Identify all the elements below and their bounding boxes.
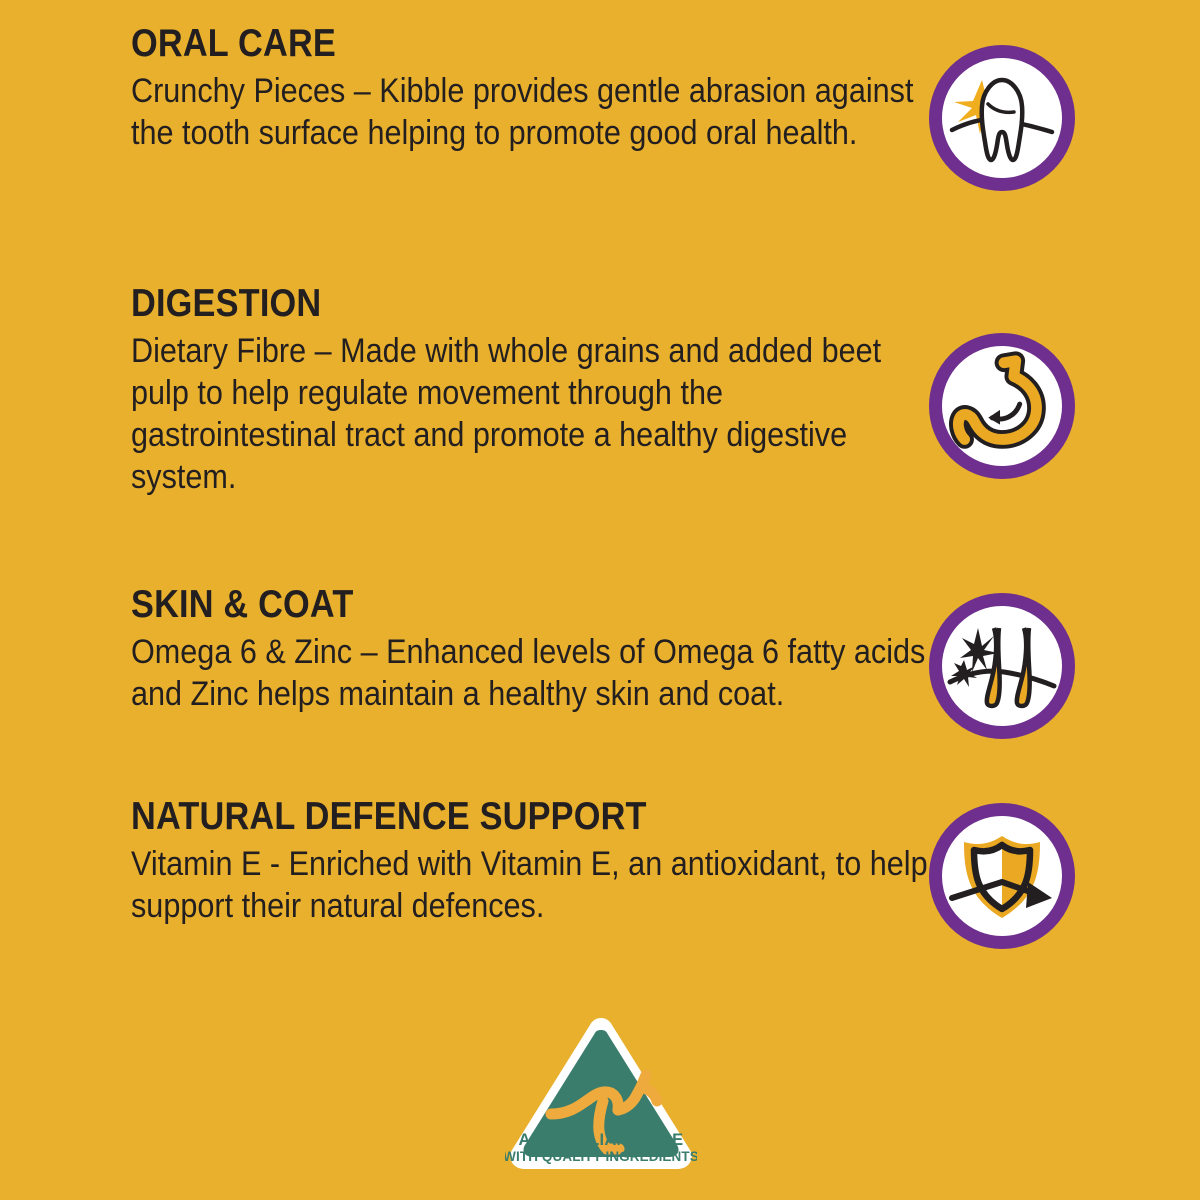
stomach-digestion-glyph (943, 347, 1061, 465)
benefit-body-oral-care: Crunchy Pieces – Kibble provides gentle … (131, 70, 930, 154)
hair-follicle-sparkle-icon (929, 593, 1075, 739)
benefit-body-digestion: Dietary Fibre – Made with whole grains a… (131, 330, 930, 498)
shield-arrow-glyph (942, 816, 1062, 936)
hair-follicle-sparkle-glyph (942, 606, 1062, 726)
shield-arrow-icon (929, 803, 1075, 949)
tooth-sparkle-icon (929, 45, 1075, 191)
benefit-text-block: DIGESTION Dietary Fibre – Made with whol… (131, 282, 931, 498)
australian-made-line2: WITH QUALITY INGREDIENTS (505, 1149, 697, 1164)
australian-made-logo-glyph: AUSTRALIAN MADE WITH QUALITY INGREDIENTS (505, 1013, 697, 1175)
benefit-body-skin-and-coat: Omega 6 & Zinc – Enhanced levels of Omeg… (131, 631, 930, 715)
australian-made-kangaroo-logo: AUSTRALIAN MADE WITH QUALITY INGREDIENTS (505, 1013, 697, 1175)
tooth-sparkle-glyph (942, 58, 1062, 178)
benefit-heading-oral-care: ORAL CARE (131, 22, 835, 66)
benefit-heading-skin-and-coat: SKIN & COAT (131, 583, 835, 627)
benefit-body-natural-defence-support: Vitamin E - Enriched with Vitamin E, an … (131, 843, 930, 927)
benefit-heading-digestion: DIGESTION (131, 282, 835, 326)
benefits-panel: ORAL CARE Crunchy Pieces – Kibble provid… (0, 0, 1200, 1200)
benefit-text-block: SKIN & COAT Omega 6 & Zinc – Enhanced le… (131, 583, 931, 715)
benefit-text-block: ORAL CARE Crunchy Pieces – Kibble provid… (131, 22, 931, 154)
benefit-text-block: NATURAL DEFENCE SUPPORT Vitamin E - Enri… (131, 795, 931, 927)
stomach-digestion-icon (929, 333, 1075, 479)
australian-made-line1: AUSTRALIAN MADE (519, 1131, 684, 1149)
benefit-heading-natural-defence-support: NATURAL DEFENCE SUPPORT (131, 795, 835, 839)
